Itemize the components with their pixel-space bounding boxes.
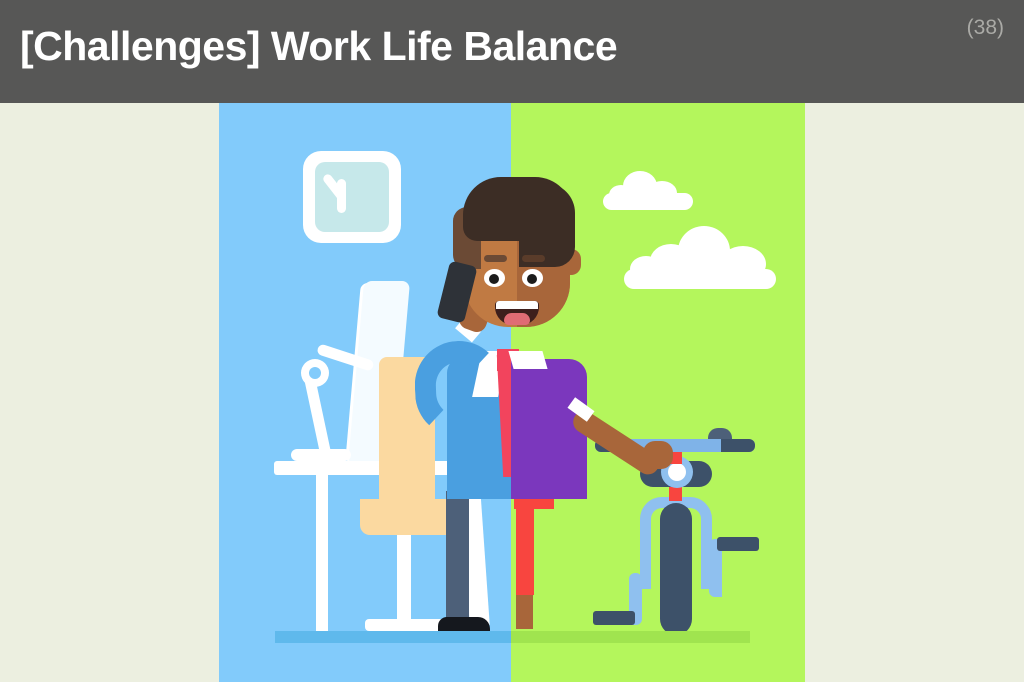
character-work-trouser (446, 491, 469, 629)
character-pupil-left (489, 274, 499, 284)
cloud-puff (609, 185, 633, 205)
character-eyebrow-right (522, 255, 545, 262)
page-number-badge: (38) (967, 16, 1004, 40)
character-teeth (496, 301, 538, 309)
cloud-puff (630, 256, 662, 282)
work-life-balance-illustration (219, 103, 805, 682)
page-title: [Challenges] Work Life Balance (20, 24, 617, 69)
wall-clock-icon (303, 151, 401, 243)
life-ground-strip (511, 631, 750, 643)
monitor-arm-joint-hole (309, 367, 321, 379)
character-eyebrow-left (484, 255, 507, 262)
cloud-puff (720, 246, 766, 282)
work-ground-strip (275, 631, 511, 643)
cloud-large-icon (624, 226, 776, 289)
character-tongue (504, 313, 530, 325)
character-tshirt-collar (508, 351, 547, 369)
bicycle-pedal-left (593, 611, 635, 625)
bicycle-headlamp-lens (668, 463, 686, 481)
clock-face (315, 162, 389, 232)
bicycle-front-tire (660, 503, 692, 635)
cloud-small-icon (603, 171, 693, 209)
character-pupil-right (527, 274, 537, 284)
character-hand-on-handlebar (643, 441, 673, 469)
office-chair-base (365, 619, 445, 631)
slide-header: [Challenges] Work Life Balance (38) (0, 0, 1024, 103)
bicycle-grip-right (721, 439, 755, 452)
bicycle-pedal-right (717, 537, 759, 551)
cloud-puff (647, 181, 677, 205)
desk-leg (316, 475, 328, 633)
office-chair-post (397, 535, 411, 627)
monitor-arm-base (291, 449, 351, 461)
desk-surface (274, 461, 464, 475)
